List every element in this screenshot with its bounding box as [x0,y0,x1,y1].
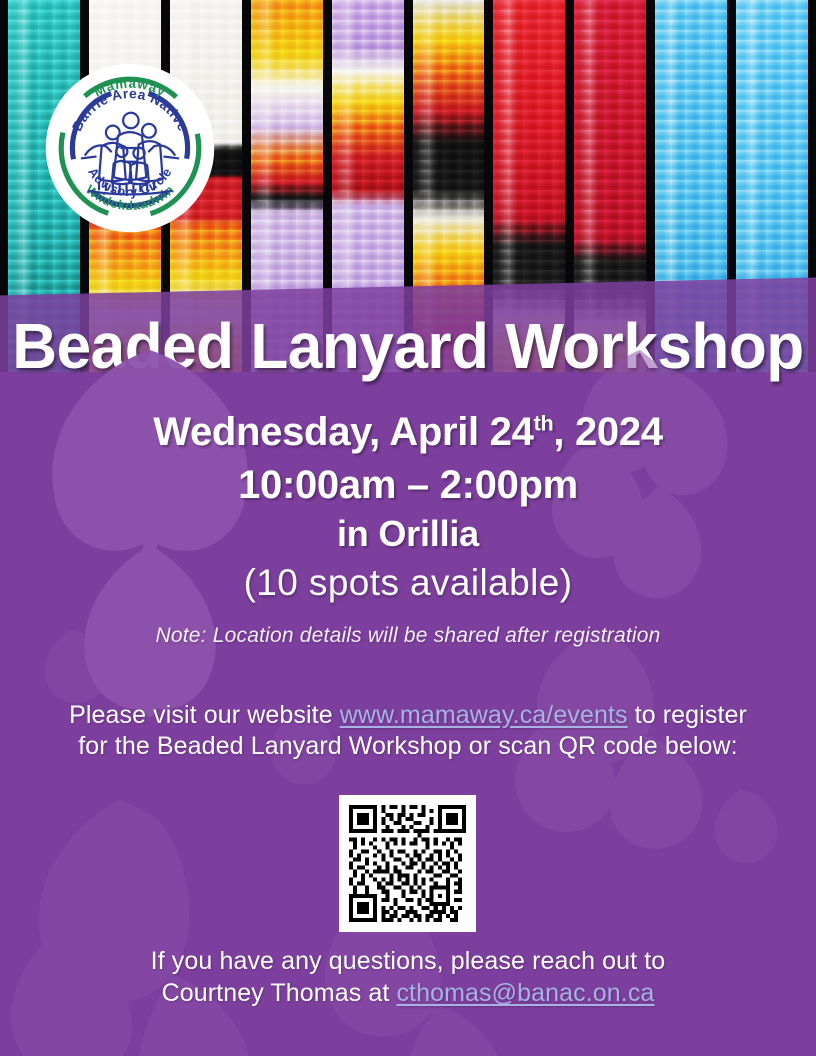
location-note: Note: Location details will be shared af… [0,622,816,650]
event-date-suffix: , 2024 [553,410,662,454]
registration-text-after: to register [628,701,747,729]
contact-name-label: Courtney Thomas at [162,979,397,1007]
event-date: Wednesday, April 24th, 2024 [0,404,816,460]
registration-line-2: for the Beaded Lanyard Workshop or scan … [0,731,816,762]
event-date-prefix: Wednesday, April 24 [153,410,533,454]
registration-text-before: Please visit our website [69,701,340,729]
event-date-ordinal: th [534,411,554,436]
event-capacity: (10 spots available) [0,558,816,608]
event-details-block: Wednesday, April 24th, 2024 10:00am – 2:… [0,404,816,762]
website-link[interactable]: www.mamaway.ca/events [340,701,628,729]
registration-instructions: Please visit our website www.mamaway.ca/… [0,700,816,762]
poster-canvas: Mamaway Barrie Area Native Advisory Circ… [0,0,816,1056]
registration-qr-code[interactable] [339,795,476,932]
event-location: in Orillia [0,510,816,558]
contact-block: If you have any questions, please reach … [0,945,816,1009]
mamaway-banac-logo: Mamaway Barrie Area Native Advisory Circ… [44,62,216,234]
contact-line-1: If you have any questions, please reach … [0,945,816,977]
contact-email-link[interactable]: cthomas@banac.on.ca [396,979,654,1007]
page-title: Beaded Lanyard Workshop [12,308,804,384]
contact-line-2: Courtney Thomas at cthomas@banac.on.ca [0,977,816,1009]
event-time: 10:00am – 2:00pm [0,460,816,510]
registration-line-1: Please visit our website www.mamaway.ca/… [0,700,816,731]
